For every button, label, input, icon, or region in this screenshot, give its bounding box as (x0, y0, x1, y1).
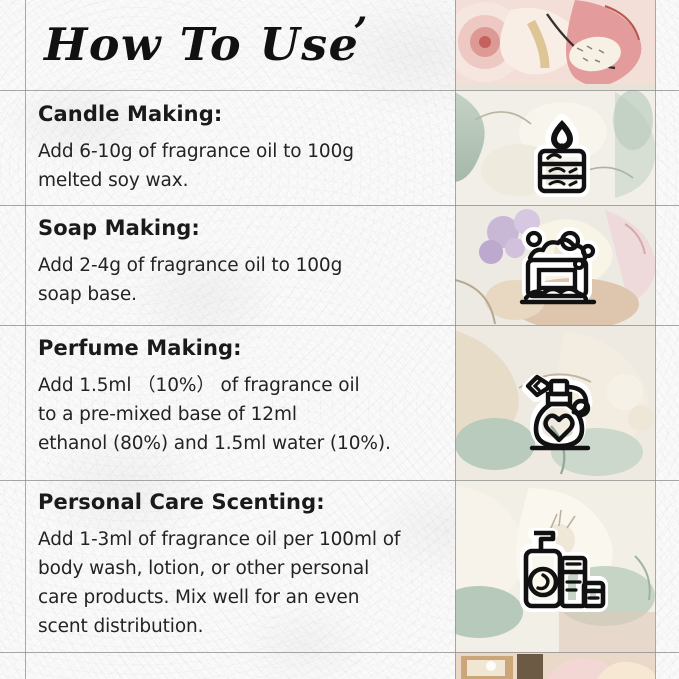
body-line: body wash, lotion, or other personal (38, 554, 438, 583)
how-to-use-infographic: How To Use’ Candle Making: Add 6-10g of … (0, 0, 679, 679)
section-personal-care-scenting: Personal Care Scenting: Add 1-3ml of fra… (38, 490, 438, 641)
section-body: Add 1.5ml （10%） of fragrance oil to a pr… (38, 371, 438, 458)
body-line: melted soy wax. (38, 166, 438, 195)
divider-below-personal-care (0, 652, 679, 653)
photo-panel-left-rule (455, 0, 456, 679)
left-margin-rule (25, 0, 26, 679)
candle-icon (512, 104, 612, 204)
section-heading: Personal Care Scenting: (38, 490, 438, 514)
section-perfume-making: Perfume Making: Add 1.5ml （10%） of fragr… (38, 336, 438, 458)
title-flourish: ’ (353, 9, 369, 56)
body-line: Add 1.5ml （10%） of fragrance oil (38, 371, 438, 400)
body-line: Add 6-10g of fragrance oil to 100g (38, 137, 438, 166)
perfume-bottle-icon (512, 360, 612, 460)
divider-below-soap (0, 325, 679, 326)
body-line: Add 2-4g of fragrance oil to 100g (38, 251, 438, 280)
divider-below-candle (0, 205, 679, 206)
section-candle-making: Candle Making: Add 6-10g of fragrance oi… (38, 102, 438, 195)
body-line: ethanol (80%) and 1.5ml water (10%). (38, 429, 438, 458)
section-heading: Candle Making: (38, 102, 438, 126)
section-body: Add 6-10g of fragrance oil to 100g melte… (38, 137, 438, 195)
photo-panel-right-rule (655, 0, 656, 679)
section-heading: Soap Making: (38, 216, 438, 240)
body-line: care products. Mix well for an even (38, 583, 438, 612)
section-heading: Perfume Making: (38, 336, 438, 360)
body-line: Add 1-3ml of fragrance oil per 100ml of (38, 525, 438, 554)
section-soap-making: Soap Making: Add 2-4g of fragrance oil t… (38, 216, 438, 309)
body-line: soap base. (38, 280, 438, 309)
body-line: to a pre-mixed base of 12ml (38, 400, 438, 429)
page-title-text: How To Use (44, 18, 359, 71)
section-body: Add 1-3ml of fragrance oil per 100ml of … (38, 525, 438, 641)
personal-care-products-icon (512, 520, 612, 620)
body-line: scent distribution. (38, 612, 438, 641)
section-body: Add 2-4g of fragrance oil to 100g soap b… (38, 251, 438, 309)
soap-bar-icon (512, 222, 612, 322)
divider-below-title (0, 90, 679, 91)
page-title: How To Use’ (44, 9, 369, 71)
divider-below-perfume (0, 480, 679, 481)
